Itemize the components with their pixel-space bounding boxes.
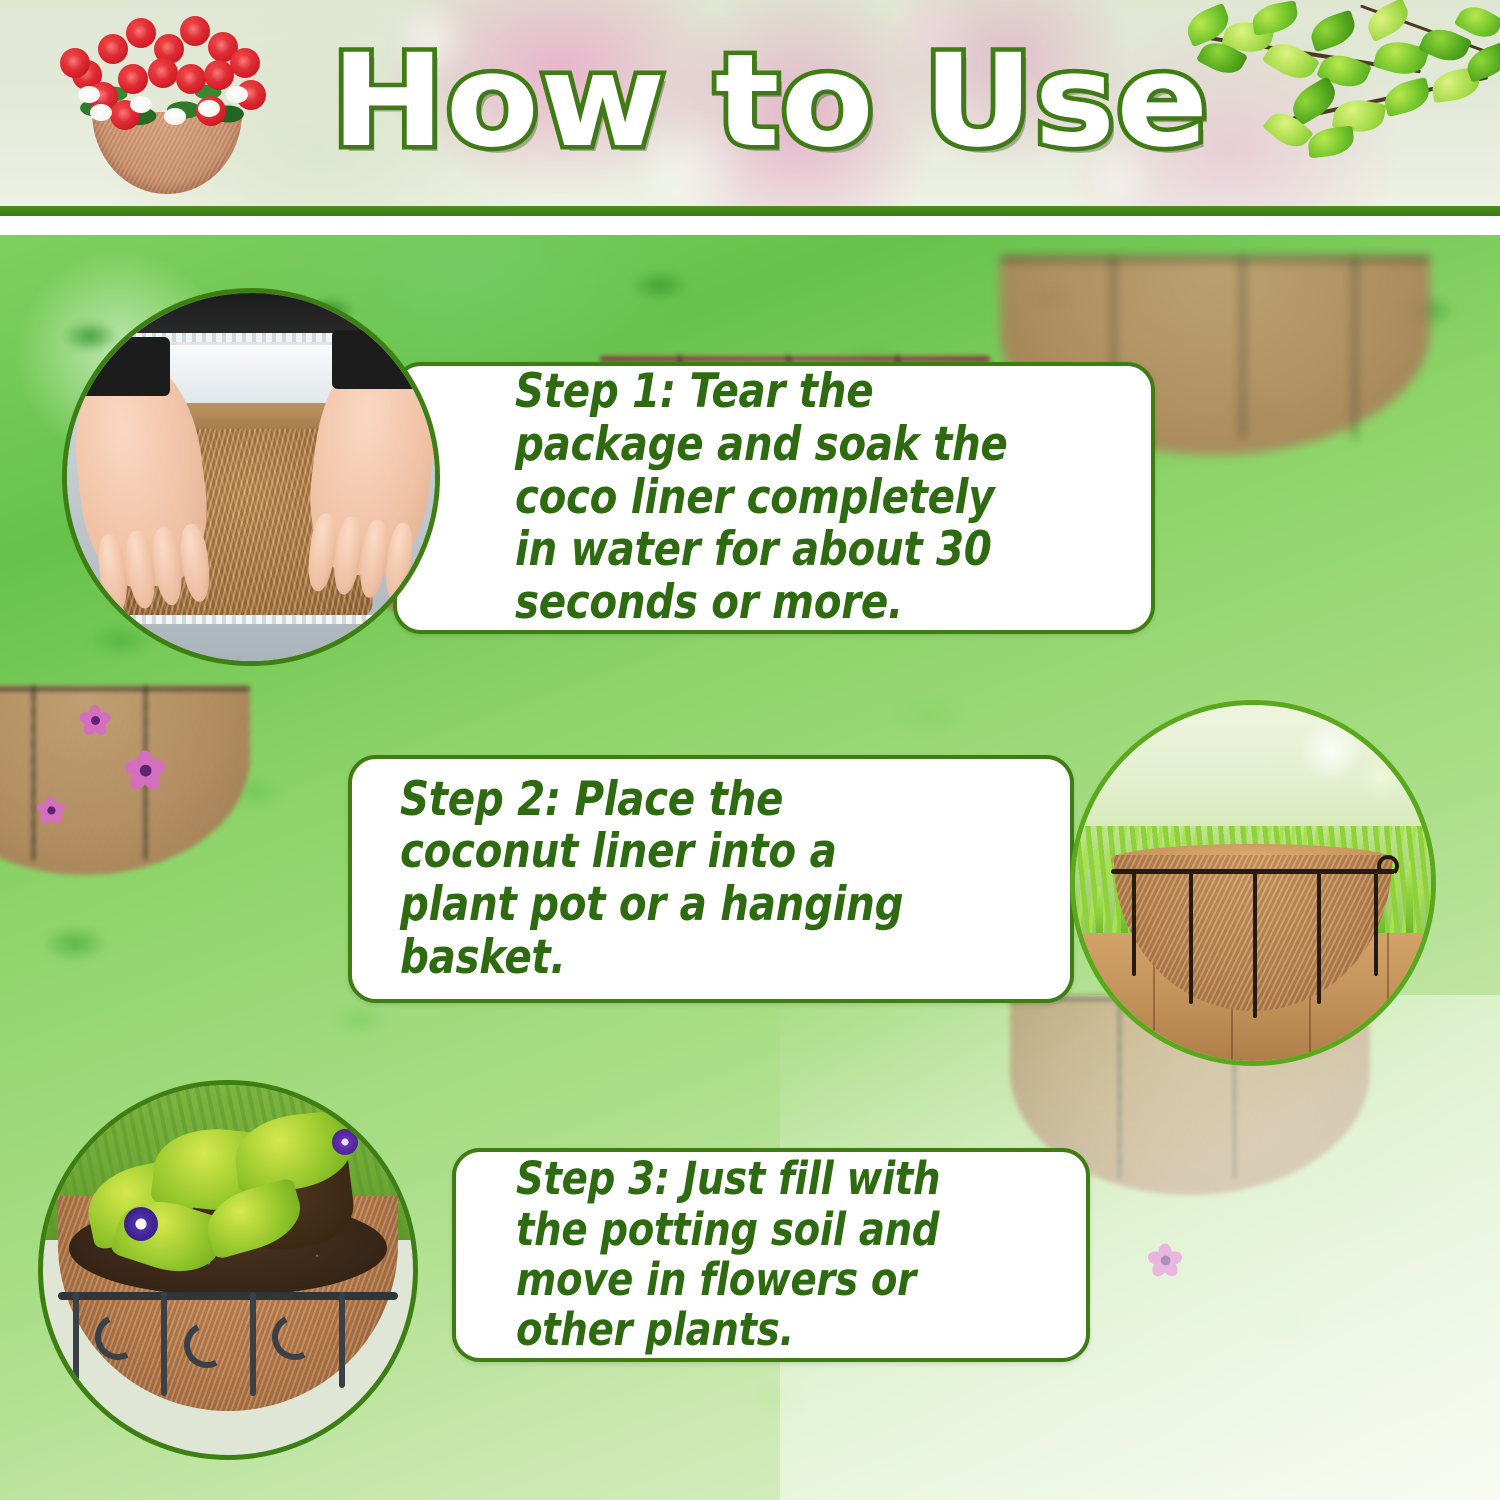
basket-wire (1317, 869, 1321, 1004)
header-banner: How to Use (0, 0, 1500, 206)
tray-ridge-bottom (96, 615, 405, 624)
step-1-text: Step 1: Tear the package and soak the co… (515, 366, 1041, 629)
header-divider-bar (0, 206, 1500, 216)
step-2-card: Step 2: Place the coconut liner into a p… (348, 755, 1074, 1003)
basket-vertical-bar (73, 1292, 79, 1388)
basket-wire (1189, 869, 1193, 1004)
step-3-card: Step 3: Just fill with the potting soil … (452, 1148, 1090, 1362)
step-1-card: Step 1: Tear the package and soak the co… (393, 362, 1155, 634)
step-3-text: Step 3: Just fill with the potting soil … (516, 1154, 991, 1356)
basket-vertical-bar (339, 1292, 345, 1388)
step-2-photo (1070, 700, 1436, 1066)
basket-metal-hoop (58, 1292, 398, 1300)
hanging-basket-with-red-roses-icon (30, 4, 295, 199)
page-title-container: How to Use (320, 12, 1220, 192)
sleeve-left (74, 337, 170, 396)
basket-wire (1132, 869, 1136, 976)
step-3-photo (38, 1080, 418, 1460)
background-flower (38, 797, 65, 824)
basket-vertical-bar (161, 1292, 167, 1396)
background-flower (126, 751, 165, 790)
basket-vertical-bar (250, 1292, 256, 1396)
basket-wire (1253, 869, 1257, 1019)
step-1-photo (62, 288, 440, 666)
purple-flower (332, 1129, 358, 1155)
basket-wire (1374, 869, 1378, 976)
sleeve-right (332, 330, 428, 389)
infographic-page: How to Use (0, 0, 1500, 1500)
background-flower (80, 705, 110, 735)
page-title: How to Use (331, 38, 1209, 166)
basket-hook (1377, 855, 1399, 877)
step-2-text: Step 2: Place the coconut liner into a p… (400, 774, 959, 985)
